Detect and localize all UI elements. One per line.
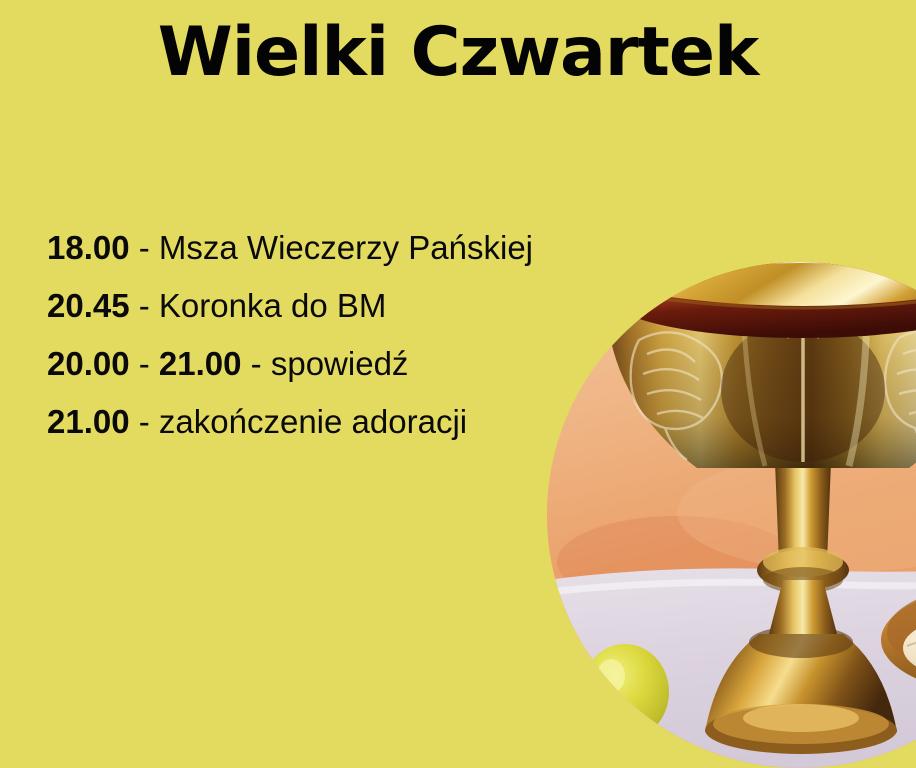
schedule-description: zakończenie adoracji [159, 403, 467, 440]
schedule-time: 18.00 [47, 229, 130, 266]
schedule-description: Msza Wieczerzy Pańskiej [159, 229, 533, 266]
schedule-separator: - [130, 229, 159, 266]
schedule-time: 20.45 [47, 287, 130, 324]
list-item: 18.00 - Msza Wieczerzy Pańskiej [47, 219, 687, 277]
schedule-separator-2: - [242, 345, 271, 382]
schedule-separator: - [130, 403, 159, 440]
schedule-separator: - [130, 287, 159, 324]
poster-canvas: Wielki Czwartek 18.00 - Msza Wieczerzy P… [0, 0, 916, 768]
schedule-time: 21.00 [47, 403, 130, 440]
schedule-separator: - [130, 345, 159, 382]
grape [581, 644, 669, 740]
list-item: 20.45 - Koronka do BM [47, 277, 687, 335]
schedule-description: Koronka do BM [159, 287, 386, 324]
schedule-time-end: 21.00 [159, 345, 242, 382]
page-title: Wielki Czwartek [0, 14, 916, 92]
schedule-time: 20.00 [47, 345, 130, 382]
schedule-description: spowiedź [271, 345, 409, 382]
